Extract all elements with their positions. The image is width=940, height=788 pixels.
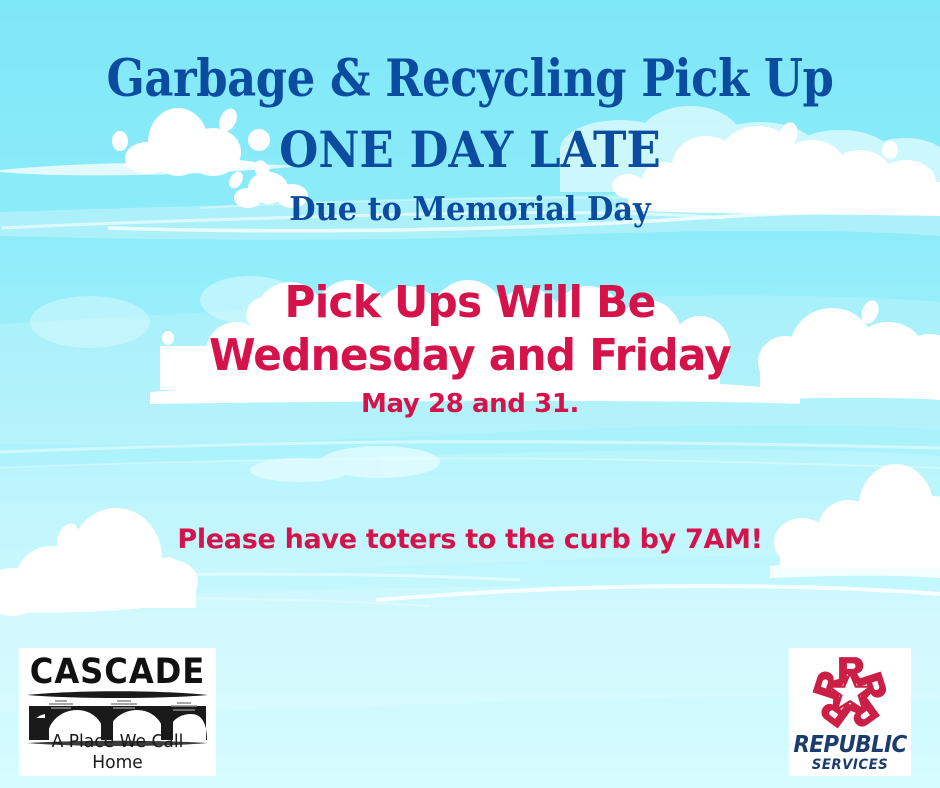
republic-wordmark: REPUBLIC	[793, 732, 906, 758]
cascade-wordmark: CASCADE	[27, 652, 208, 692]
headline-line-2: ONE DAY LATE	[47, 125, 893, 175]
cascade-logo: CASCADE A Place We Call Home	[19, 648, 216, 776]
schedule-line-2: Wednesday and Friday	[19, 334, 921, 378]
cloud-lower-left	[0, 508, 198, 616]
headline-line-3: Due to Memorial Day	[38, 192, 903, 225]
flyer-poster: Garbage & Recycling Pick Up ONE DAY LATE…	[0, 0, 940, 788]
schedule-line-1: Pick Ups Will Be	[19, 281, 921, 325]
haze-bands	[0, 191, 940, 713]
headline-line-1: Garbage & Recycling Pick Up	[56, 54, 883, 105]
schedule-dates: May 28 and 31.	[0, 391, 940, 417]
cloud-ghost-top-center	[250, 446, 440, 482]
republic-subwordmark: SERVICES	[792, 757, 908, 773]
republic-services-logo: REPUBLIC SERVICES	[789, 648, 911, 776]
star-of-r-icon	[800, 654, 900, 732]
cloud-lower-right	[770, 464, 940, 578]
cascade-tagline: A Place We Call Home	[24, 731, 211, 773]
instruction-text: Please have toters to the curb by 7AM!	[0, 526, 940, 553]
